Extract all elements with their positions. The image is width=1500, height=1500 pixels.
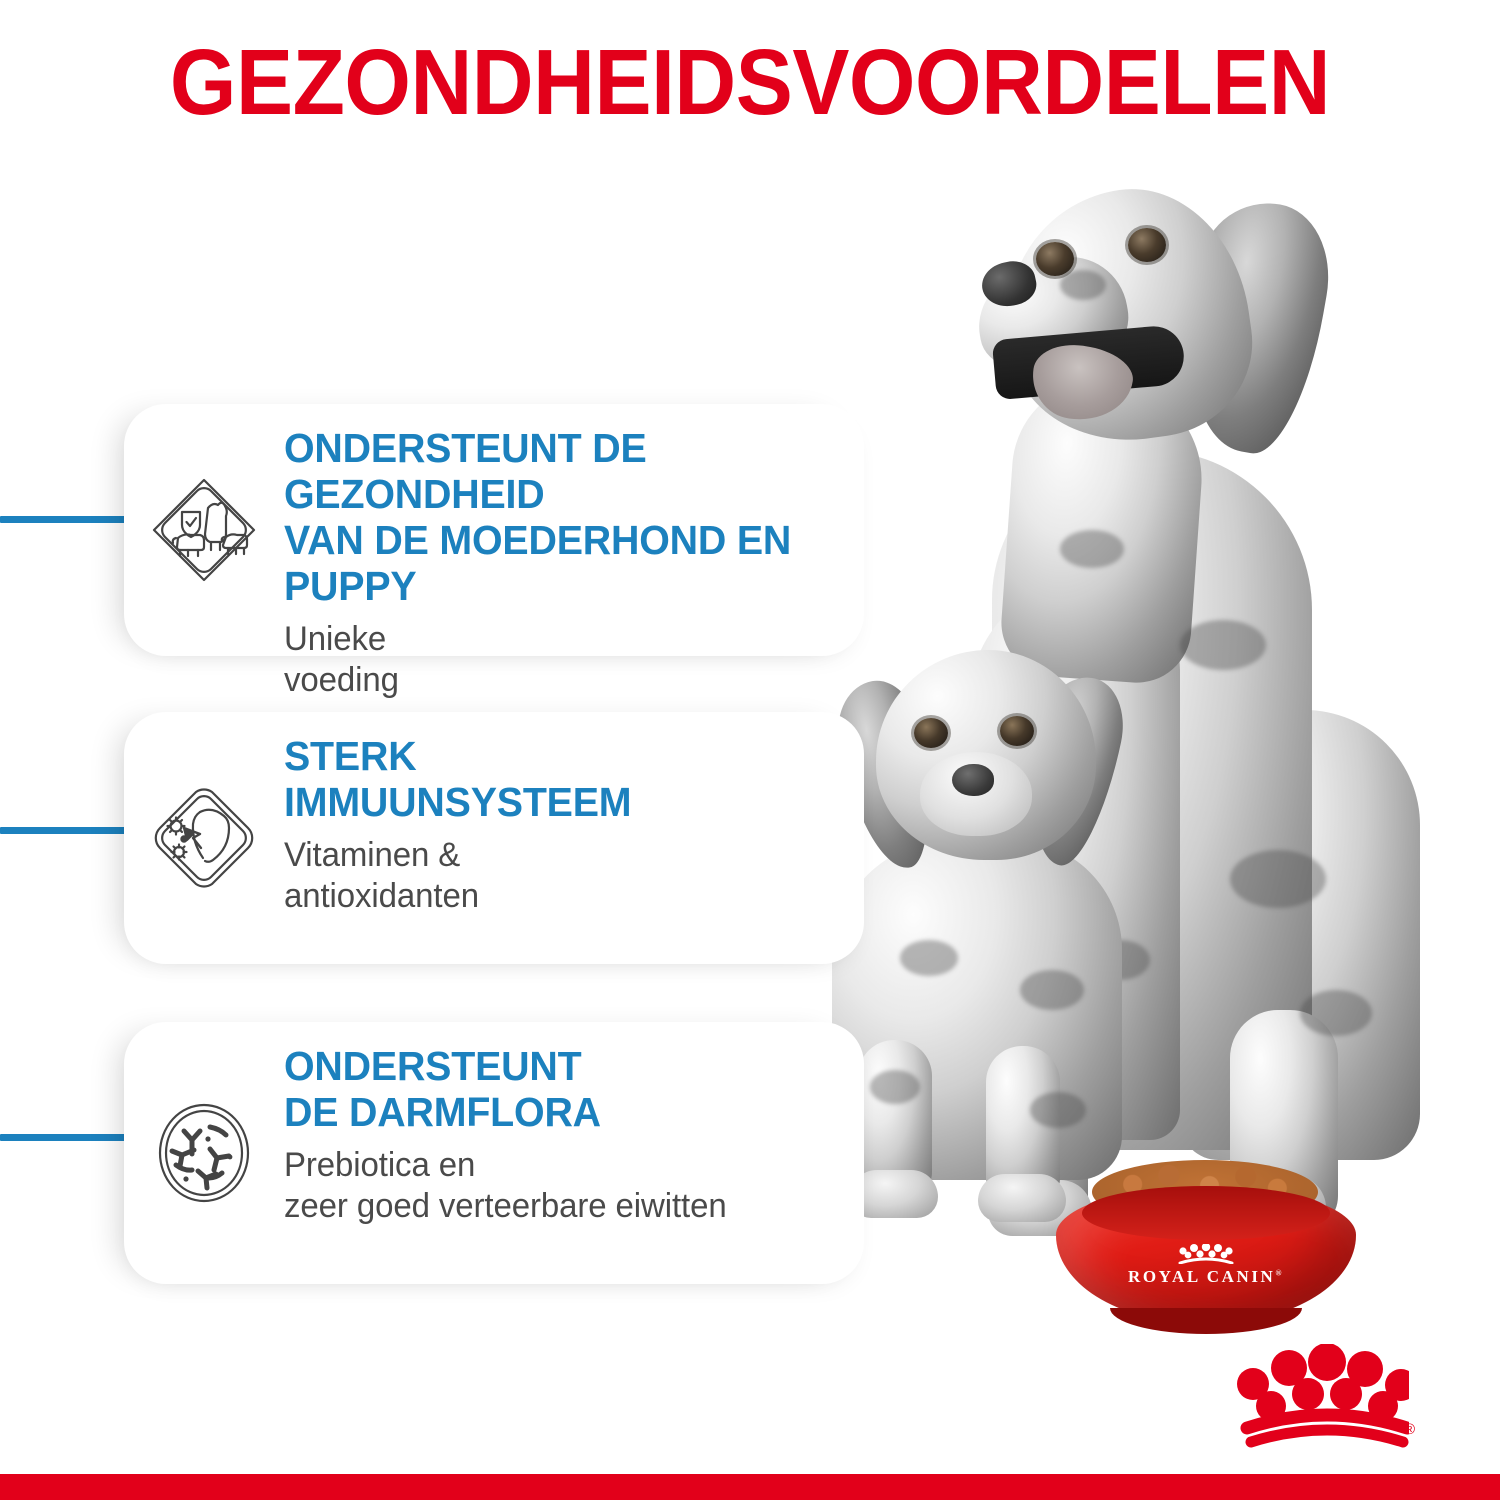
adult-dog-eye-right <box>1128 228 1166 262</box>
bowl-brand-text: ROYAL CANIN <box>1128 1267 1275 1286</box>
benefit-subtitle-2: Vitaminen & antioxidanten <box>284 835 847 918</box>
benefit-icon-3 <box>124 1022 284 1284</box>
benefit-subtitle-3: Prebiotica en zeer goed verteerbare eiwi… <box>284 1145 847 1228</box>
benefit-heading-2: STERK IMMUUNSYSTEEM <box>284 734 841 826</box>
gut-flora-bacteria-icon <box>148 1097 260 1209</box>
benefit-subtitle-1: Unieke voeding <box>284 619 847 702</box>
benefit-heading-1: ONDERSTEUNT DE GEZONDHEID VAN DE MOEDERH… <box>284 426 841 610</box>
benefit-card-gut-flora: ONDERSTEUNT DE DARMFLORA Prebiotica en z… <box>124 1022 864 1284</box>
benefit-card-maternal-health: ONDERSTEUNT DE GEZONDHEID VAN DE MOEDERH… <box>124 404 864 656</box>
food-bowl: ROYAL CANIN® <box>1056 1160 1356 1350</box>
benefit-icon-1 <box>124 404 284 656</box>
crown-icon <box>1177 1244 1235 1264</box>
mother-dog-puppies-shield-icon <box>148 474 260 586</box>
puppy-nose <box>952 764 994 796</box>
benefit-card-immune-system: STERK IMMUUNSYSTEEM Vitaminen & antioxid… <box>124 712 864 964</box>
page-title: GEZONDHEIDSVOORDELEN <box>60 34 1440 132</box>
puppy-eye-right <box>1000 716 1034 746</box>
adult-dog-eye-left <box>1036 242 1074 276</box>
connector-line-1 <box>0 516 138 523</box>
benefit-heading-3: ONDERSTEUNT DE DARMFLORA <box>284 1044 841 1136</box>
puppy-eye-left <box>914 718 948 748</box>
royal-canin-crown-icon <box>1233 1344 1409 1448</box>
benefit-icon-2 <box>124 712 284 964</box>
product-benefits-page: GEZONDHEIDSVOORDELEN <box>0 0 1500 1500</box>
connector-line-3 <box>0 1134 138 1141</box>
shield-germs-immunity-icon <box>148 782 260 894</box>
royal-canin-logo: ® <box>1233 1344 1409 1454</box>
bowl-registered-mark: ® <box>1275 1268 1284 1277</box>
logo-registered-mark: ® <box>1404 1421 1415 1438</box>
dog-photo: ROYAL CANIN® <box>760 150 1500 1330</box>
bowl-brandmark: ROYAL CANIN® <box>1056 1244 1356 1287</box>
bottom-red-bar <box>0 1474 1500 1500</box>
connector-line-2 <box>0 827 138 834</box>
